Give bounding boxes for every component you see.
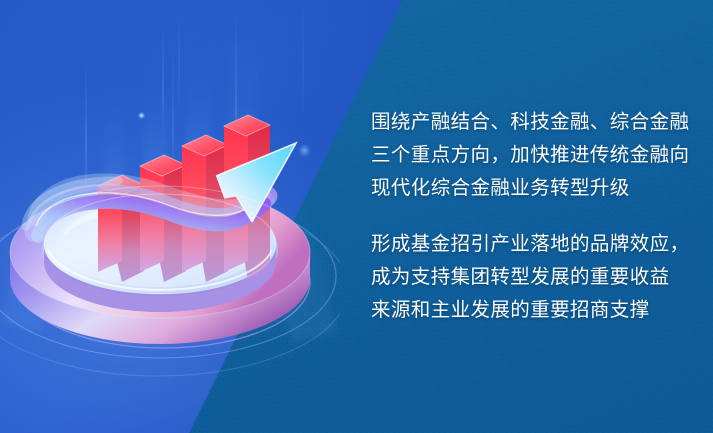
headline-paragraph-2: 形成基金招引产业落地的品牌效应， 成为支持集团转型发展的重要收益 来源和主业发展…	[371, 228, 689, 327]
growth-chart-illustration	[0, 0, 340, 433]
headline-paragraph-1: 围绕产融结合、科技金融、综合金融 三个重点方向，加快推进传统金融向 现代化综合金…	[371, 106, 689, 205]
slide-canvas: 围绕产融结合、科技金融、综合金融 三个重点方向，加快推进传统金融向 现代化综合金…	[0, 0, 713, 433]
